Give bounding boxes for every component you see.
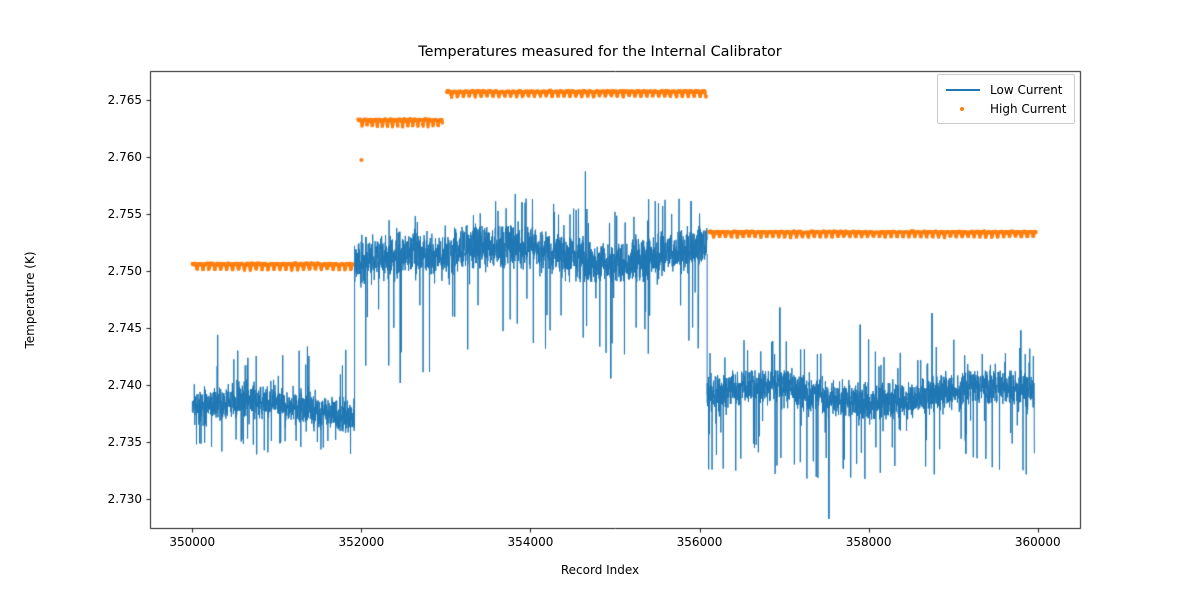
legend: Low Current High Current [937,74,1075,124]
legend-marker-swatch [944,102,982,116]
x-tick-label: 352000 [338,535,384,549]
x-tick-label: 356000 [677,535,723,549]
x-tick-label: 358000 [846,535,892,549]
x-tick-label: 354000 [508,535,554,549]
y-axis-label: Temperature (K) [23,251,37,348]
legend-item-low-current: Low Current [944,80,1066,99]
legend-item-high-current: High Current [944,99,1066,118]
y-tick-label: 2.765 [102,93,142,107]
y-tick-label: 2.730 [102,492,142,506]
y-tick-label: 2.740 [102,378,142,392]
matplotlib-figure: Temperatures measured for the Internal C… [0,0,1200,600]
y-tick-label: 2.735 [102,435,142,449]
legend-label-high-current: High Current [990,102,1066,116]
y-tick-label: 2.760 [102,150,142,164]
x-tick-label: 360000 [1015,535,1061,549]
legend-label-low-current: Low Current [990,83,1063,97]
y-tick-label: 2.755 [102,207,142,221]
x-tick-label: 350000 [169,535,215,549]
y-tick-label: 2.745 [102,321,142,335]
y-tick-label: 2.750 [102,264,142,278]
legend-line-swatch [944,83,982,97]
